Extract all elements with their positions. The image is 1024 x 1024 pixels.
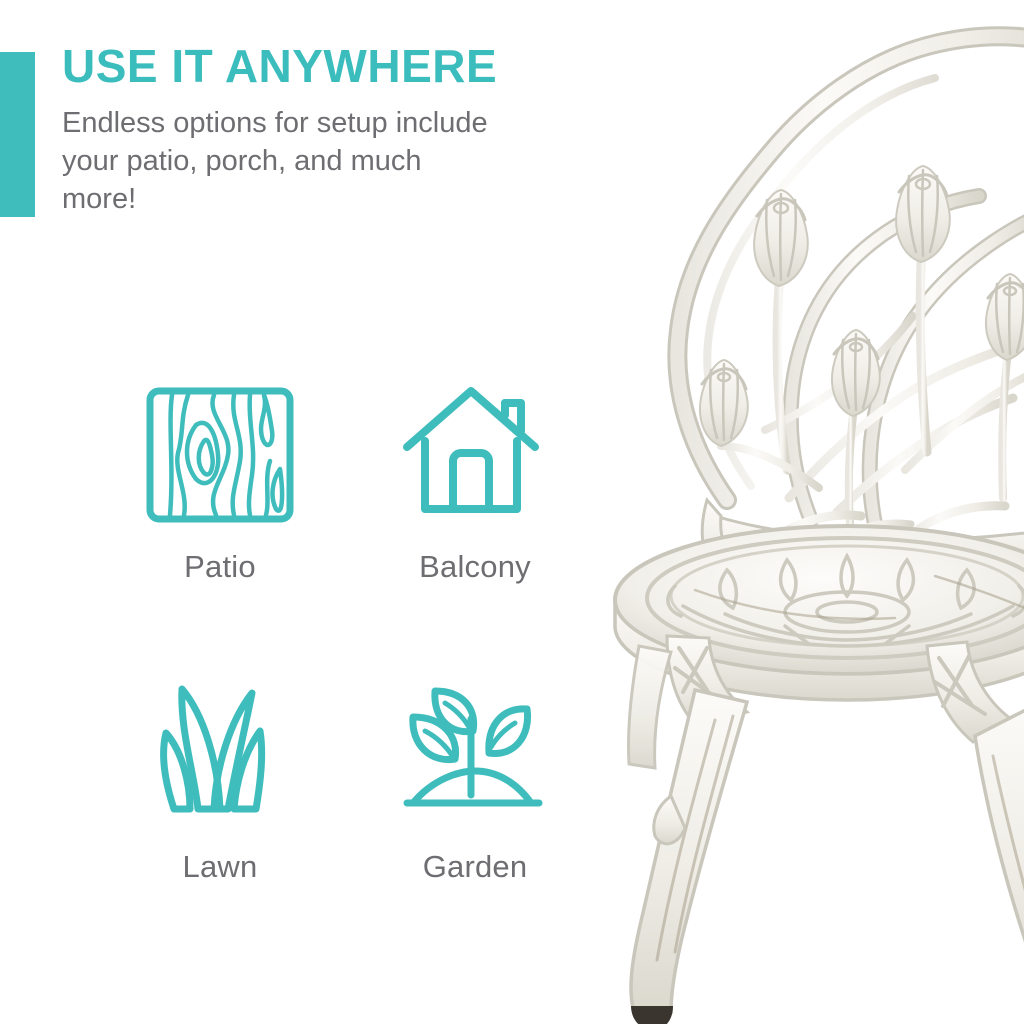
page-title: USE IT ANYWHERE	[62, 42, 497, 90]
accent-bar	[0, 52, 35, 217]
wood-plank-icon	[120, 362, 320, 527]
feature-label-balcony: Balcony	[375, 549, 575, 585]
feature-label-garden: Garden	[375, 849, 575, 885]
feature-label-lawn: Lawn	[120, 849, 320, 885]
back-left-leg	[628, 646, 671, 768]
subheadline-text: Endless options for setup include your p…	[62, 104, 492, 218]
product-photo-chair: .rail { stroke: url(#metal); stroke-line…	[575, 0, 1024, 1024]
product-feature-banner: USE IT ANYWHERE Endless options for setu…	[0, 0, 1024, 1024]
leg-foot-cap	[631, 1006, 673, 1024]
feature-item-patio: Patio	[120, 362, 320, 585]
grass-icon	[120, 662, 320, 827]
feature-label-patio: Patio	[120, 549, 320, 585]
feature-item-garden: Garden	[375, 662, 575, 885]
feature-item-lawn: Lawn	[120, 662, 320, 885]
feature-icon-grid: Patio Balcony	[110, 362, 580, 892]
feature-item-balcony: Balcony	[375, 362, 575, 585]
house-icon	[375, 362, 575, 527]
sprout-icon	[375, 662, 575, 827]
